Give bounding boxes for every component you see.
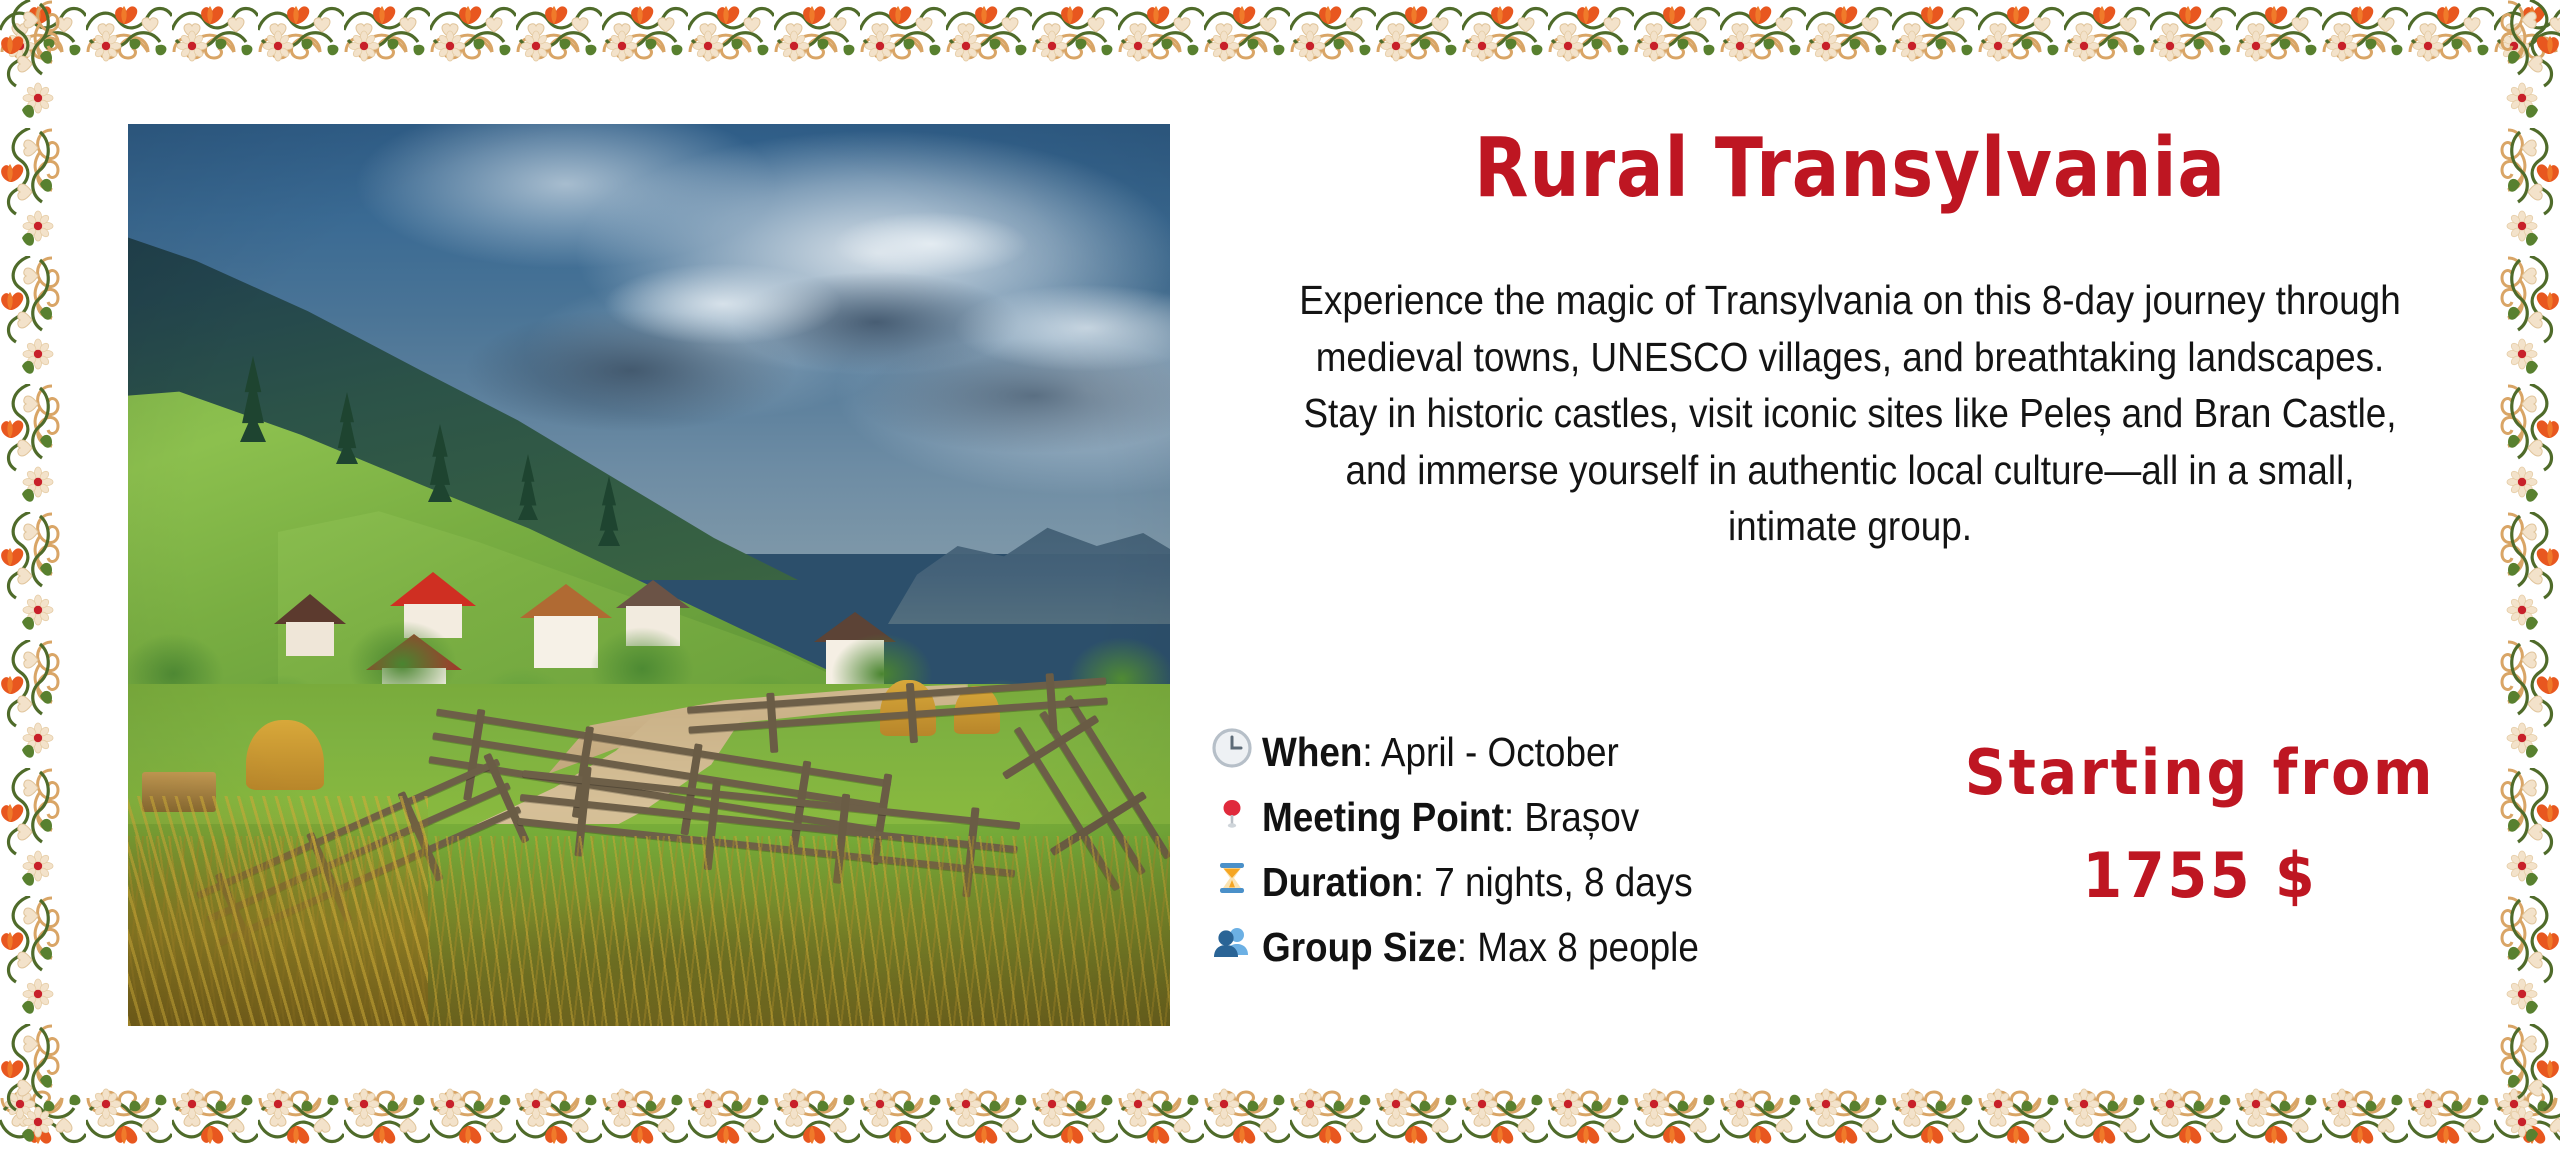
fact-value: Brașov [1524, 794, 1639, 840]
fact-label: Meeting Point [1262, 794, 1504, 840]
lower-section: When: April - October Meeting Point: Bra… [1200, 722, 2500, 982]
page-title: Rural Transylvania [1291, 128, 2409, 210]
fact-separator: : [1504, 794, 1525, 840]
fact-label: Duration [1262, 859, 1414, 905]
folk-border-right [2492, 0, 2560, 1150]
list-item-text: Duration: 7 nights, 8 days [1262, 862, 1693, 903]
destination-photo [128, 124, 1170, 1026]
list-item-duration: Duration: 7 nights, 8 days [1210, 852, 1900, 903]
list-item-text: Meeting Point: Brașov [1262, 797, 1639, 838]
list-item-text: When: April - October [1262, 732, 1619, 773]
fact-value: 7 nights, 8 days [1434, 859, 1692, 905]
trip-facts-list: When: April - October Meeting Point: Bra… [1200, 722, 1900, 982]
people-icon [1210, 921, 1262, 965]
price-block: Starting from 1755 $ [1900, 722, 2500, 982]
fact-value: Max 8 people [1477, 924, 1699, 970]
list-item-meeting-point: Meeting Point: Brașov [1210, 787, 1900, 838]
offer-details-panel: Rural Transylvania Experience the magic … [1200, 110, 2500, 1050]
travel-offer-card: Rural Transylvania Experience the magic … [0, 0, 2560, 1150]
folk-border-left [0, 0, 68, 1150]
fact-label: Group Size [1262, 924, 1457, 970]
fact-separator: : [1457, 924, 1478, 970]
list-item-text: Group Size: Max 8 people [1262, 927, 1699, 968]
fact-separator: : [1414, 859, 1435, 905]
map-pin-icon [1210, 791, 1262, 835]
clock-icon [1210, 726, 1262, 770]
fact-label: When [1262, 729, 1362, 775]
photo-vignette [128, 124, 1170, 1026]
fact-separator: : [1362, 729, 1380, 775]
fact-value: April - October [1381, 729, 1619, 775]
price-prefix: Starting from [1924, 736, 2476, 809]
list-item-when: When: April - October [1210, 722, 1900, 773]
description-text: Experience the magic of Transylvania on … [1288, 272, 2413, 555]
price-amount: 1755 $ [1924, 839, 2476, 912]
hourglass-icon [1210, 856, 1262, 900]
folk-border-top [0, 0, 2560, 68]
list-item-group-size: Group Size: Max 8 people [1210, 917, 1900, 968]
folk-border-bottom [0, 1082, 2560, 1150]
